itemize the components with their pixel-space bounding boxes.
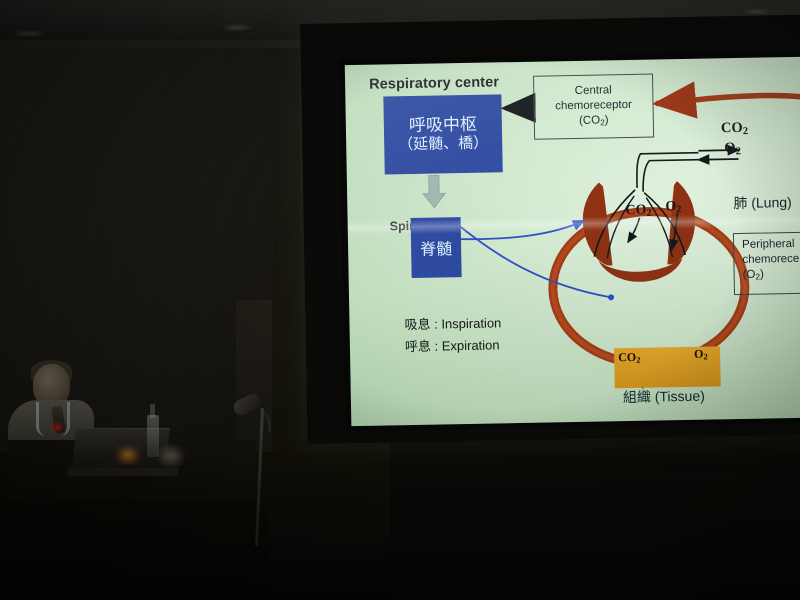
peripheral-chemoreceptor-line2: chemoreceptor — [742, 251, 800, 268]
inspiration-label: 吸息 : Inspiration — [404, 312, 501, 333]
lower-right-shadow — [390, 432, 800, 600]
lung-label: 肺 (Lung) — [733, 192, 792, 213]
podium-light-reflection — [156, 443, 186, 469]
lung-o2-label: O2 — [665, 199, 681, 215]
projection-screen: Respiratory center 呼吸中枢 （延髄、橋） Central c… — [300, 15, 800, 444]
central-chemoreceptor-line2: chemoreceptor — [555, 98, 632, 115]
stage-riser — [262, 514, 390, 574]
ceiling-light-icon — [742, 8, 772, 15]
peripheral-chemoreceptor-box: Peripheral chemoreceptor (O2) — [733, 231, 800, 295]
central-chemoreceptor-line1: Central — [575, 83, 612, 99]
expiration-label: 呼息 : Expiration — [405, 334, 500, 355]
respiratory-center-box: 呼吸中枢 （延髄、橋） — [383, 94, 502, 174]
peripheral-chemoreceptor-line3: (O2) — [743, 266, 800, 284]
podium-lamp-glow — [116, 445, 140, 465]
central-chemoreceptor-box: Central chemoreceptor (CO2) — [533, 74, 654, 140]
ceiling-light-icon — [14, 30, 44, 37]
lecture-hall-photo: Respiratory center 呼吸中枢 （延髄、橋） Central c… — [0, 0, 800, 600]
spinal-cord-box-text: 脊髄 — [420, 235, 452, 260]
tissue-o2-label: O2 — [694, 347, 708, 362]
spinal-cord-box: 脊髄 — [411, 217, 462, 278]
peripheral-chemoreceptor-line1: Peripheral — [742, 236, 800, 253]
lung-co2-label: CO2 — [625, 203, 651, 220]
respiratory-center-line1: 呼吸中枢 — [409, 115, 477, 136]
water-bottle — [147, 415, 159, 457]
central-chemoreceptor-line3: (CO2) — [579, 114, 609, 130]
podium-base — [0, 500, 268, 600]
microphone-led-icon — [55, 425, 60, 430]
gas-exchange-co2-label: CO2 — [721, 120, 748, 138]
projected-slide: Respiratory center 呼吸中枢 （延髄、橋） Central c… — [345, 57, 800, 426]
ceiling-light-icon — [222, 24, 252, 31]
tissue-label: 組織 (Tissue) — [623, 386, 705, 407]
respiratory-center-line2: （延髄、橋） — [398, 134, 488, 154]
slide-heading: Respiratory center — [369, 74, 499, 92]
laptop-base — [67, 468, 178, 476]
tissue-co2-label: CO2 — [618, 350, 641, 365]
gas-exchange-o2-label: O2 — [724, 140, 741, 158]
